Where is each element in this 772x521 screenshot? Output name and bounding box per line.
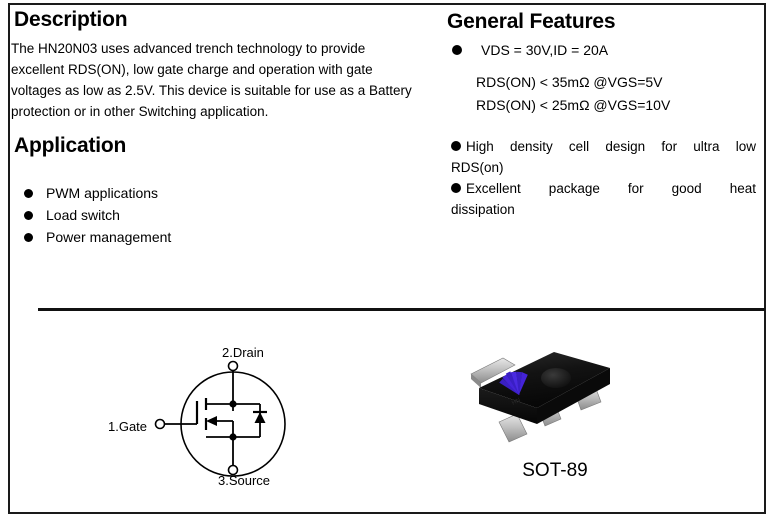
bullet-icon <box>24 211 33 220</box>
package-illustration: HN SOT-89 <box>455 348 655 508</box>
datasheet-page: Description The HN20N03 uses advanced tr… <box>0 0 772 521</box>
general-features-bullet-2: High density cell design for ultra low R… <box>451 136 756 178</box>
application-list: PWM applications Load switch Power manag… <box>20 182 320 248</box>
feature-line: Excellent package for good heat <box>451 178 756 199</box>
feature-line-continued: RDS(on) <box>451 157 756 178</box>
list-item-label: Load switch <box>46 207 120 223</box>
gate-terminal-circle <box>156 420 165 429</box>
list-item: Power management <box>20 226 320 248</box>
mosfet-symbol-diagram: 2.Drain 3.Source 1.Gate <box>100 340 330 505</box>
bullet-icon <box>24 189 33 198</box>
general-features-heading: General Features <box>447 10 615 34</box>
page-border-left <box>8 3 10 514</box>
pin-label-gate: 1.Gate <box>108 419 147 434</box>
body-diode-triangle <box>255 412 266 423</box>
page-border-top <box>8 3 766 5</box>
bullet-icon <box>451 141 461 151</box>
bullet-icon <box>451 183 461 193</box>
bullet-icon <box>452 45 462 55</box>
rdson-spec-10v: RDS(ON) < 25mΩ @VGS=10V <box>476 97 670 113</box>
page-border-bottom <box>8 512 766 514</box>
package-dimple-mark <box>541 368 571 388</box>
list-item-label: Power management <box>46 229 171 245</box>
page-border-right <box>764 3 766 514</box>
vds-id-rating: VDS = 30V,ID = 20A <box>481 40 608 60</box>
feature-text: Excellent package for good heat <box>466 181 756 196</box>
body-arrow-head <box>206 416 217 426</box>
description-body-text: The HN20N03 uses advanced trench technol… <box>11 38 415 122</box>
drain-terminal-circle <box>229 362 238 371</box>
package-name-label: SOT-89 <box>455 460 655 482</box>
application-heading: Application <box>14 134 126 158</box>
sot89-package-svg: HN <box>455 348 655 458</box>
general-features-bullet-3: Excellent package for good heat dissipat… <box>451 178 756 220</box>
section-divider <box>38 308 765 311</box>
list-item: PWM applications <box>20 182 320 204</box>
pin-label-source: 3.Source <box>218 473 270 488</box>
feature-line: High density cell design for ultra low <box>451 136 756 157</box>
rdson-spec-5v: RDS(ON) < 35mΩ @VGS=5V <box>476 74 663 90</box>
bullet-icon <box>24 233 33 242</box>
list-item-label: PWM applications <box>46 185 158 201</box>
description-heading: Description <box>14 8 127 32</box>
list-item: Load switch <box>20 204 320 226</box>
feature-text: High density cell design for ultra low <box>466 139 756 154</box>
pin-label-drain: 2.Drain <box>222 345 264 360</box>
feature-line-continued: dissipation <box>451 199 756 220</box>
general-features-bullet-1: VDS = 30V,ID = 20A <box>452 40 752 60</box>
